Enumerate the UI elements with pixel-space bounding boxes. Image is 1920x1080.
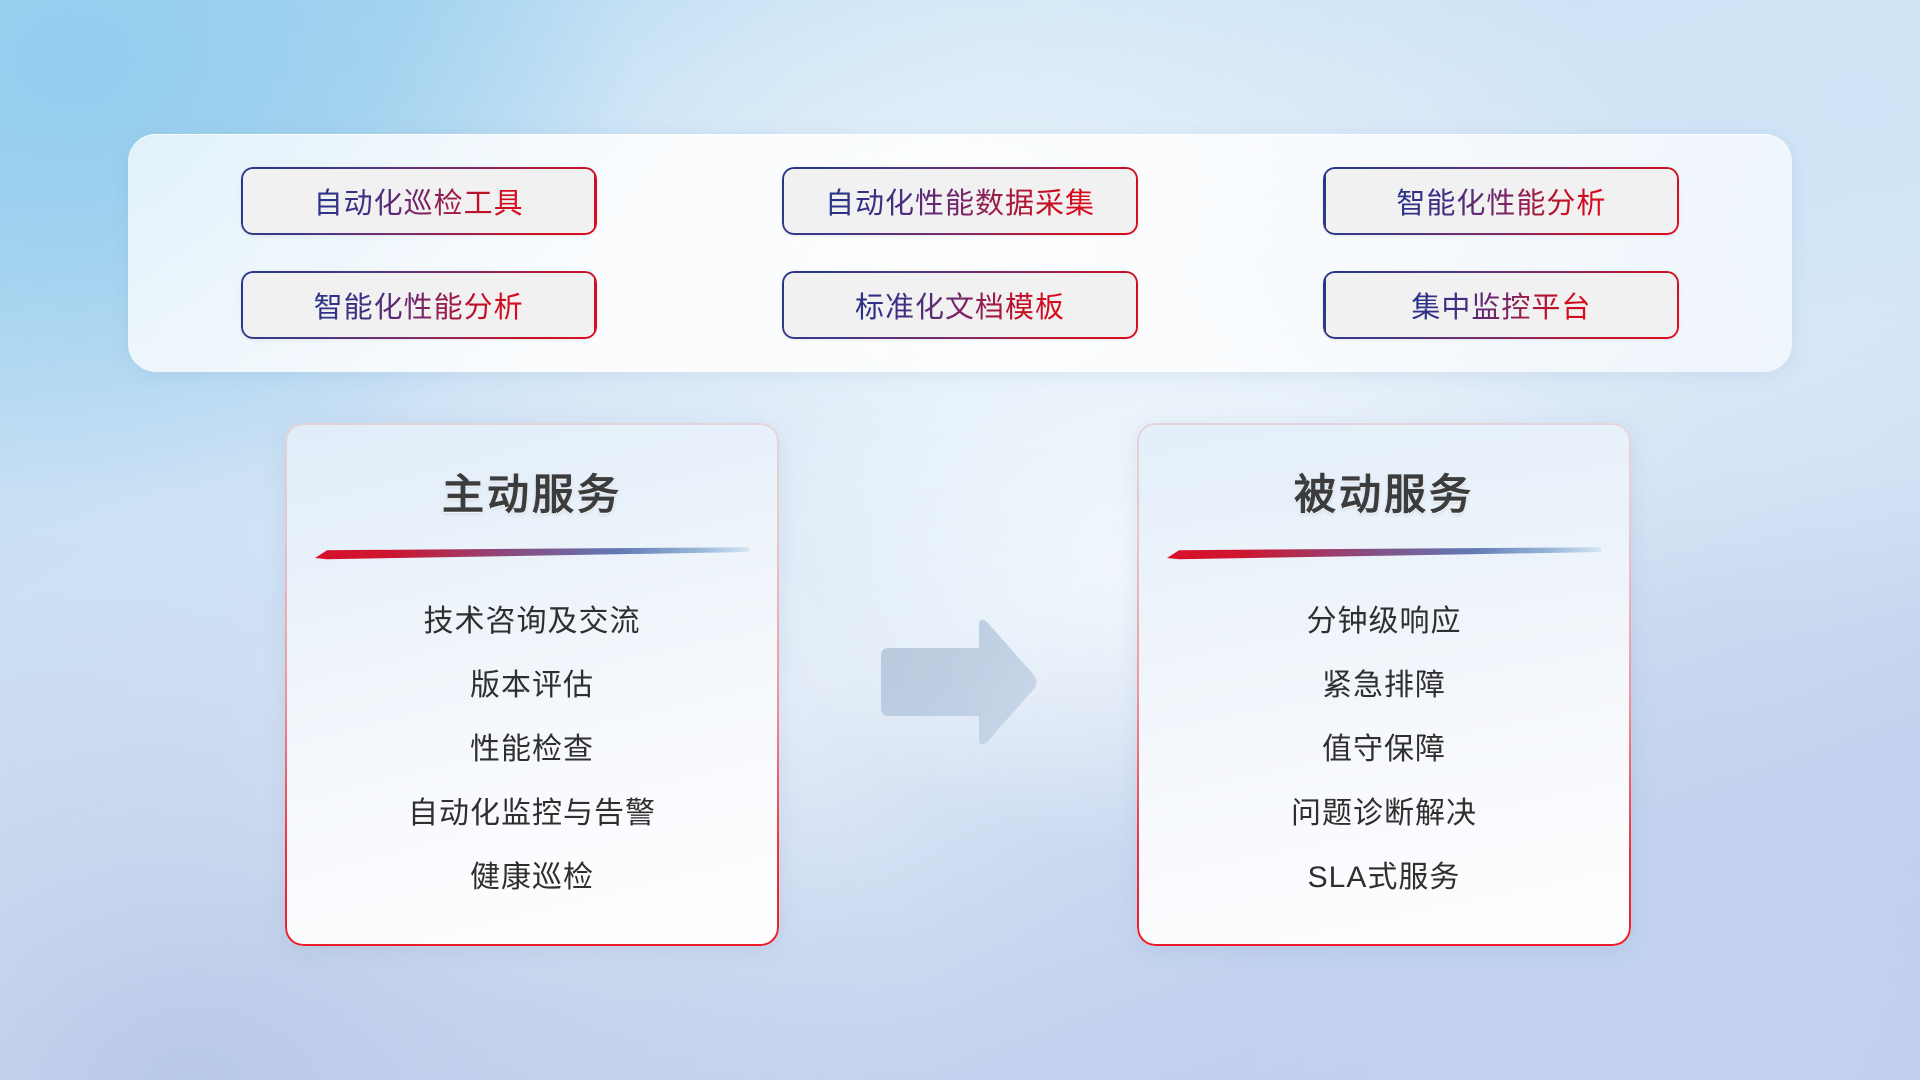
capability-pill-label: 自动化巡检工具 [314, 180, 524, 222]
capability-pill[interactable]: 标准化文档模板 [782, 271, 1138, 339]
card-divider [315, 546, 749, 560]
capability-pill-label: 集中监控平台 [1411, 284, 1591, 326]
capability-pill-label: 智能化性能分析 [1396, 180, 1606, 222]
service-item: 版本评估 [285, 654, 779, 718]
service-item: 问题诊断解决 [1137, 782, 1631, 846]
service-item-list: 技术咨询及交流 版本评估 性能检查 自动化监控与告警 健康巡检 [285, 590, 779, 910]
service-item: 值守保障 [1137, 718, 1631, 782]
service-item: 技术咨询及交流 [285, 590, 779, 654]
service-item: SLA式服务 [1137, 846, 1631, 910]
capability-pill-label: 标准化文档模板 [855, 284, 1065, 326]
service-card-active: 主动服务 技术咨询及交流 版本评估 性能检查 自动化监控与告警 健康巡检 [285, 423, 779, 946]
capability-pill-label: 自动化性能数据采集 [825, 180, 1095, 222]
capability-pill[interactable]: 智能化性能分析 [1323, 167, 1679, 235]
service-item: 紧急排障 [1137, 654, 1631, 718]
service-item: 自动化监控与告警 [285, 782, 779, 846]
capability-pill[interactable]: 自动化性能数据采集 [782, 167, 1138, 235]
capability-pill[interactable]: 集中监控平台 [1323, 271, 1679, 339]
service-card-passive: 被动服务 分钟级响应 紧急排障 值守保障 问题诊断解决 SLA式服务 [1137, 423, 1631, 946]
capability-pill[interactable]: 自动化巡检工具 [241, 167, 597, 235]
capability-pill-label: 智能化性能分析 [314, 284, 524, 326]
service-item-list: 分钟级响应 紧急排障 值守保障 问题诊断解决 SLA式服务 [1137, 590, 1631, 910]
capability-pill[interactable]: 智能化性能分析 [241, 271, 597, 339]
card-divider [1167, 546, 1601, 560]
card-title: 主动服务 [285, 461, 779, 522]
service-item: 分钟级响应 [1137, 590, 1631, 654]
card-title: 被动服务 [1137, 461, 1631, 522]
service-item: 健康巡检 [285, 846, 779, 910]
service-item: 性能检查 [285, 718, 779, 782]
capabilities-panel: 自动化巡检工具 自动化性能数据采集 智能化性能分析 智能化性能分析 标准化文档模… [128, 134, 1792, 372]
